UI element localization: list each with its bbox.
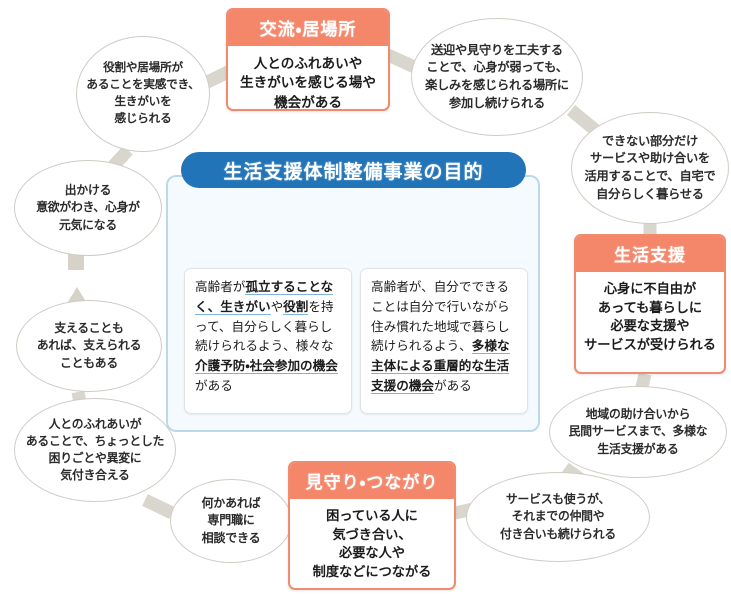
card-mimamori-heading: 見守り・つながり (290, 463, 454, 499)
card-seikatsu-shien-heading: 生活支援 (576, 236, 724, 272)
bubble-yakuwari: 役割や居場所が あることを実感でき、 生きがいを 感じられる (76, 36, 210, 152)
bubble-chiiki: 地域の助け合いから 民間サービスまで、多様な 生活支援がある (549, 386, 727, 478)
card-seikatsu-shien-body: 心身に不自由が あっても暮らしに 必要な支援や サービスが受けられる (576, 272, 724, 364)
card-koryu: 交流・居場所 人とのふれあいや 生きがいを感じる場や 機会がある (226, 8, 390, 111)
bubble-dekakeru: 出かける 意欲がわき、心身が 元気になる (14, 160, 162, 256)
bubble-hureai: 人とのふれあいが あることで、ちょっとした 困りごとや異変に 気付き合える (14, 398, 176, 502)
bubble-nanika-text: 何かあれば 専門職に 相談できる (195, 495, 266, 547)
page-title: 生活支援体制整備事業の目的 (181, 152, 526, 188)
bubble-sasaeru: 支えることも あれば、支えられる こともある (16, 300, 162, 392)
subbox-left-plain-2: や (271, 300, 284, 314)
bubble-yakuwari-text: 役割や居場所が あることを実感でき、 生きがいを 感じられる (80, 60, 205, 127)
card-mimamori-body: 困っている人に 気づき合い、 必要な人や 制度などにつながる (290, 499, 454, 590)
card-seikatsu-shien: 生活支援 心身に不自由が あっても暮らしに 必要な支援や サービスが受けられる (574, 234, 726, 374)
infographic-canvas: 役割や居場所が あることを実感でき、 生きがいを 感じられる 送迎や見守りを工夫… (0, 0, 731, 596)
bubble-service-text: サービスも使うが、 それまでの仲間や 付き合いも続けられる (494, 491, 622, 542)
subbox-left-plain-1: 高齢者が (195, 280, 245, 294)
card-koryu-body: 人とのふれあいや 生きがいを感じる場や 機会がある (228, 46, 388, 111)
bubble-sasaeru-text: 支えることも あれば、支えられる こともある (31, 320, 147, 371)
card-koryu-heading: 交流・居場所 (228, 10, 388, 46)
subbox-right-plain-2: がある (434, 379, 472, 393)
bubble-service: サービスも使うが、 それまでの仲間や 付き合いも続けられる (466, 472, 650, 562)
bubble-nanika: 何かあれば 専門職に 相談できる (170, 479, 292, 563)
card-mimamori: 見守り・つながり 困っている人に 気づき合い、 必要な人や 制度などにつながる (288, 461, 456, 590)
bubble-dekinai-text: できない部分だけ サービスや助け合いを 活用することで、自宅で 自分らしく暮らせ… (578, 133, 721, 204)
connector-nanika-to-hureai (145, 500, 172, 513)
subbox-left-em-2: 役割 (283, 300, 308, 315)
bubble-sougei: 送迎や見守りを工夫する ことで、心身が弱っても、 楽しみを感じられる場所に 参加… (411, 18, 583, 136)
bubble-hureai-text: 人とのふれあいが あることで、ちょっとした 困りごとや異変に 気付き合える (20, 416, 170, 484)
subbox-right: 高齢者が、自分でできることは自分で行いながら住み慣れた地域で暮らし続けられるよう… (360, 268, 528, 414)
bubble-chiiki-text: 地域の助け合いから 民間サービスまで、多様な 生活支援がある (563, 406, 714, 457)
subbox-left: 高齢者が孤立することなく、生きがいや役割を持って、自分らしく暮らし続けられるよう… (184, 268, 352, 414)
subbox-left-em-3: 介護予防・社会参加の機会 (195, 359, 338, 374)
subbox-left-plain-4: がある (195, 379, 233, 393)
bubble-sougei-text: 送迎や見守りを工夫する ことで、心身が弱っても、 楽しみを感じられる場所に 参加… (419, 42, 575, 113)
bubble-dekinai: できない部分だけ サービスや助け合いを 活用することで、自宅で 自分らしく暮らせ… (571, 112, 729, 224)
bubble-dekakeru-text: 出かける 意欲がわき、心身が 元気になる (30, 182, 146, 233)
